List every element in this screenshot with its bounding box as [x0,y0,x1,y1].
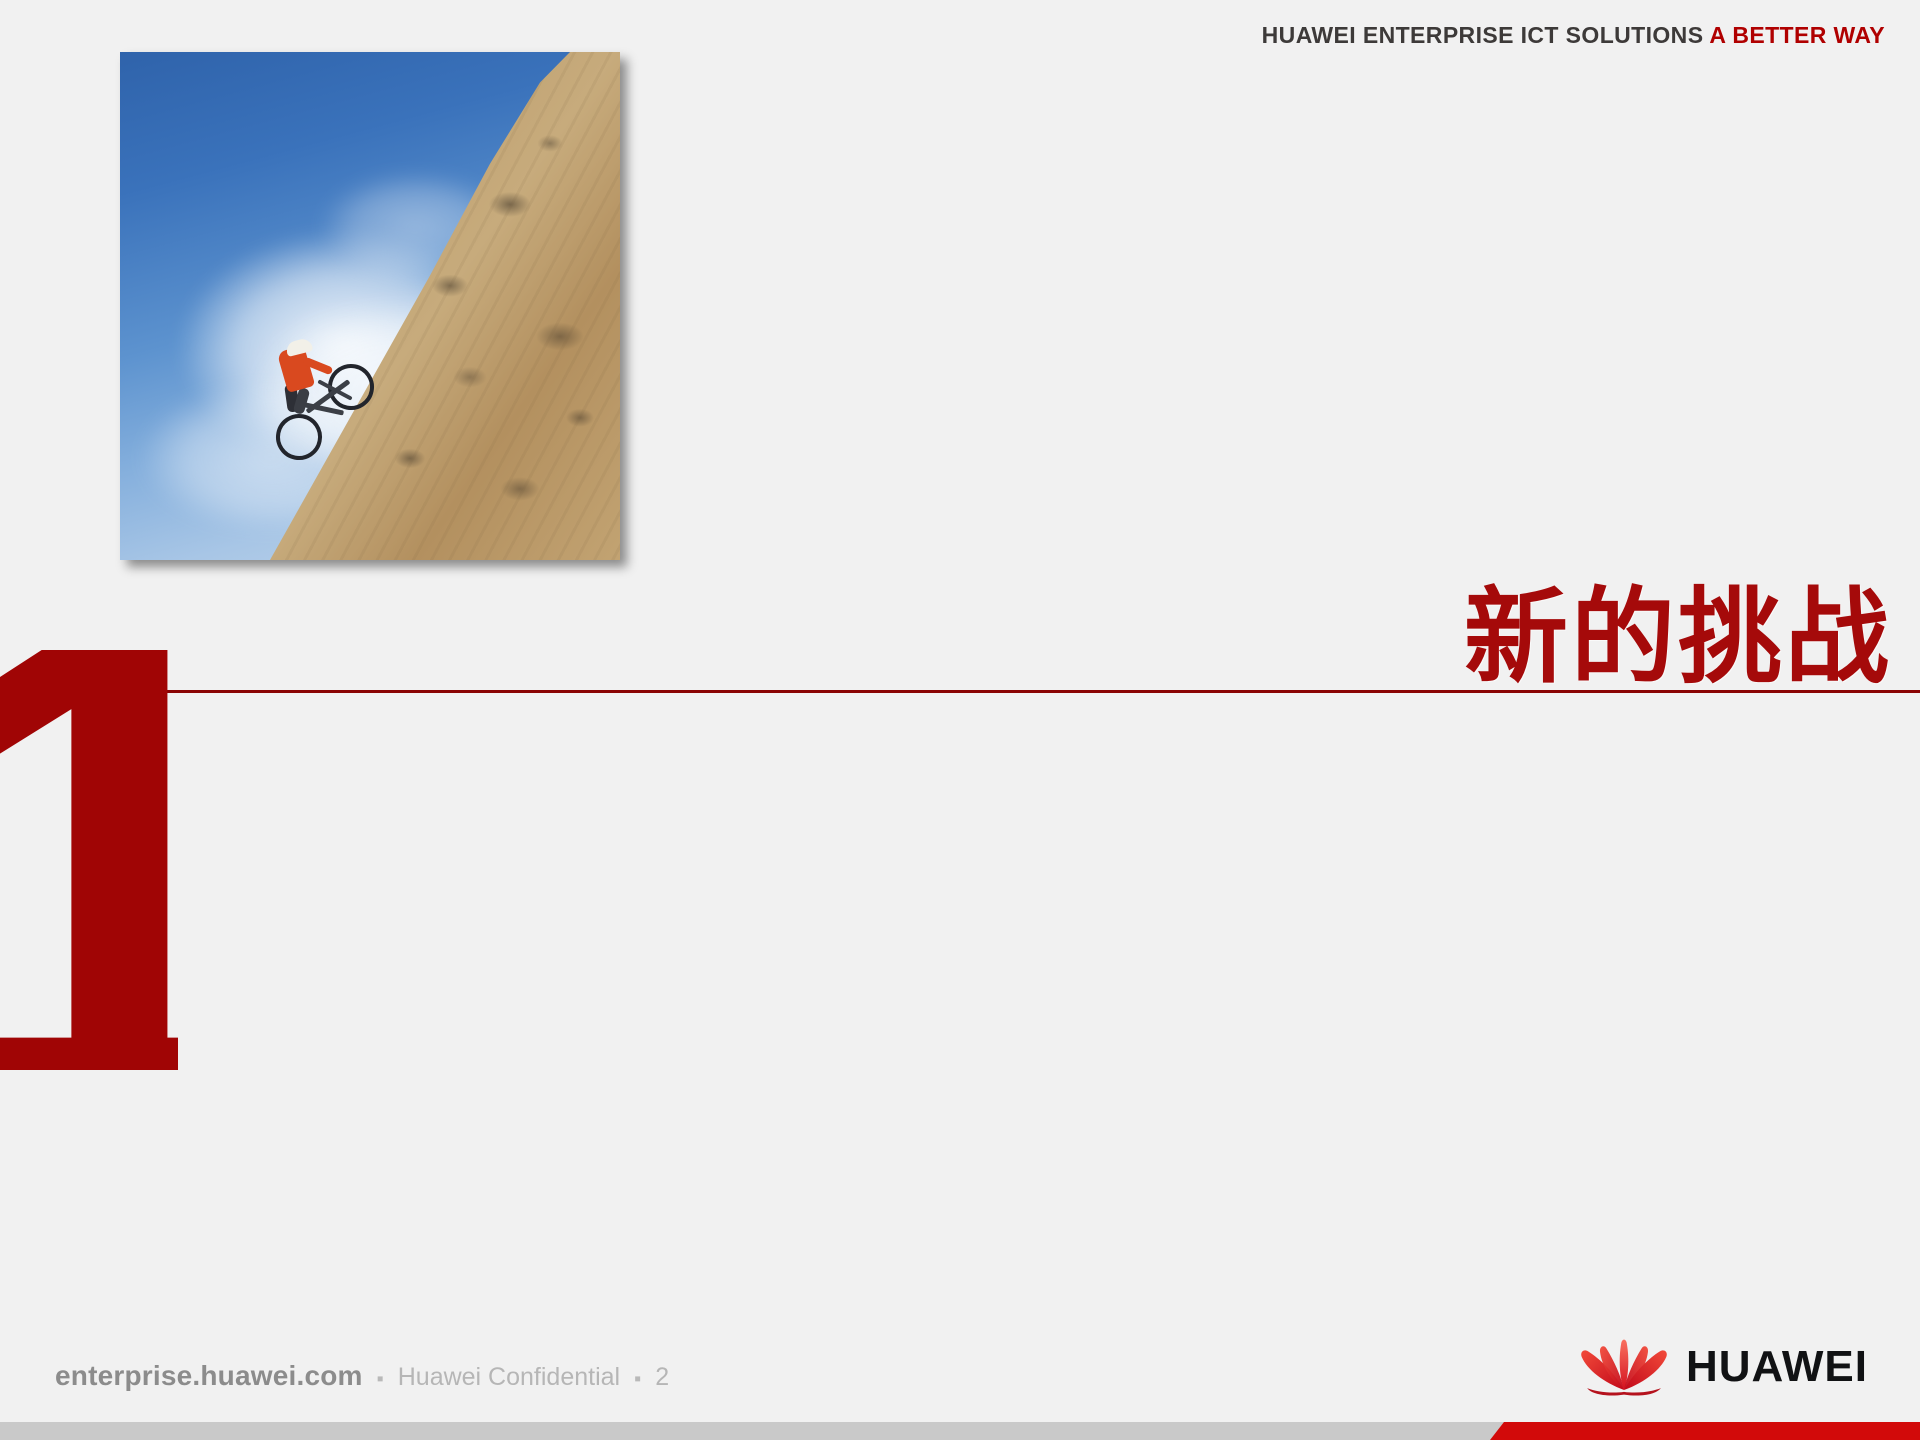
footer-page-number: 2 [655,1363,669,1392]
footer-separator-icon: ▪ [377,1369,384,1389]
header-text-dark: HUAWEI ENTERPRISE ICT SOLUTIONS [1262,22,1704,48]
footer-separator-icon: ▪ [634,1369,641,1389]
footer-website-url[interactable]: enterprise.huawei.com [55,1360,363,1392]
section-number: 1 [0,650,178,1070]
huawei-wordmark: HUAWEI [1686,1345,1868,1389]
section-title: 新的挑战 [1464,578,1892,698]
bottom-red-wedge [1490,1422,1920,1440]
cyclist-helmet [285,337,314,357]
bike-wheel-rear-icon [267,405,331,469]
footer-confidential-label: Huawei Confidential [398,1363,620,1392]
presentation-slide: HUAWEI ENTERPRISE ICT SOLUTIONS A BETTER… [0,0,1920,1440]
bottom-accent-bar [0,1422,1920,1440]
huawei-logo: HUAWEI [1578,1336,1868,1398]
header-text-red: A BETTER WAY [1709,22,1885,48]
cyclist-figure [270,340,390,460]
mountain-biker-photo [120,52,620,560]
slide-header-tagline: HUAWEI ENTERPRISE ICT SOLUTIONS A BETTER… [1262,24,1885,47]
huawei-flower-logo-icon [1578,1336,1670,1398]
photo-content [120,52,620,560]
slide-footer: enterprise.huawei.com ▪ Huawei Confident… [55,1360,669,1392]
